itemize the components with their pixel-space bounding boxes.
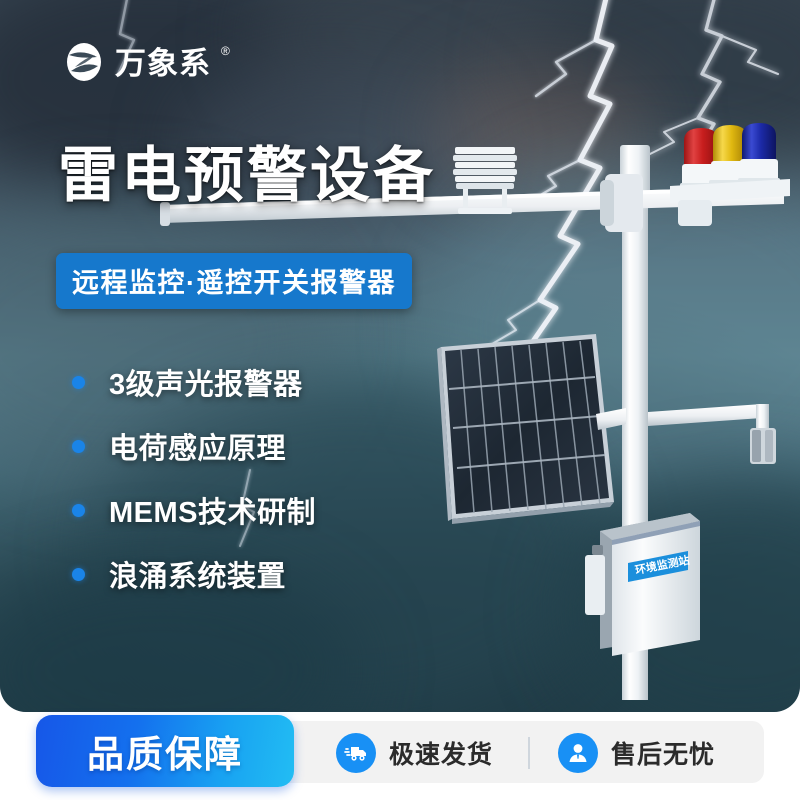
bullet-dot-icon xyxy=(72,568,85,581)
red-alarm-light xyxy=(680,128,722,190)
support-person-icon xyxy=(558,733,598,773)
trust-divider xyxy=(528,737,530,769)
list-item: 电荷感应原理 xyxy=(72,414,316,478)
page-title: 雷电预警设备 xyxy=(58,146,436,206)
warm-haze xyxy=(430,60,660,200)
blue-alarm-light xyxy=(738,123,780,185)
feature-list: 3级声光报警器 电荷感应原理 MEMS技术研制 浪涌系统装置 xyxy=(72,350,316,606)
trust-item-support: 售后无忧 xyxy=(558,733,715,773)
bullet-dot-icon xyxy=(72,504,85,517)
camera-sensor-probe xyxy=(648,404,776,464)
bullet-dot-icon xyxy=(72,440,85,453)
trademark-symbol: ® xyxy=(221,44,230,58)
product-banner: 环境监测站 万象系 ® 雷电预警设备 远程监控·遥控开关报警器 3级声 xyxy=(0,0,800,800)
brand-name: 万象系 xyxy=(115,48,211,79)
list-item: 3级声光报警器 xyxy=(72,350,316,414)
trust-item-shipping: 极速发货 xyxy=(336,733,493,773)
feature-label: 浪涌系统装置 xyxy=(109,553,286,595)
swirl-globe-logo-icon xyxy=(62,40,106,84)
cloud-blotch xyxy=(430,150,800,510)
quality-badge: 品质保障 xyxy=(36,715,294,787)
feature-label: 电荷感应原理 xyxy=(109,425,286,467)
subtitle-badge: 远程监控·遥控开关报警器 xyxy=(56,253,412,309)
list-item: 浪涌系统装置 xyxy=(72,542,316,606)
control-box: 环境监测站 xyxy=(585,513,700,656)
control-box-label: 环境监测站 xyxy=(634,553,691,577)
solar-panel xyxy=(437,334,626,524)
list-item: MEMS技术研制 xyxy=(72,478,316,542)
trust-item-label: 极速发货 xyxy=(389,735,493,771)
feature-label: MEMS技术研制 xyxy=(109,489,316,531)
feature-label: 3级声光报警器 xyxy=(109,361,303,403)
cloud-blotch xyxy=(560,470,800,712)
bullet-dot-icon xyxy=(72,376,85,389)
delivery-truck-icon xyxy=(336,733,376,773)
hero-storm-background: 环境监测站 万象系 ® 雷电预警设备 远程监控·遥控开关报警器 3级声 xyxy=(0,0,800,712)
yellow-alarm-light xyxy=(709,125,751,187)
trust-item-label: 售后无忧 xyxy=(611,735,715,771)
quality-badge-label: 品质保障 xyxy=(87,724,243,778)
brand-logo[interactable]: 万象系 ® xyxy=(62,40,229,84)
